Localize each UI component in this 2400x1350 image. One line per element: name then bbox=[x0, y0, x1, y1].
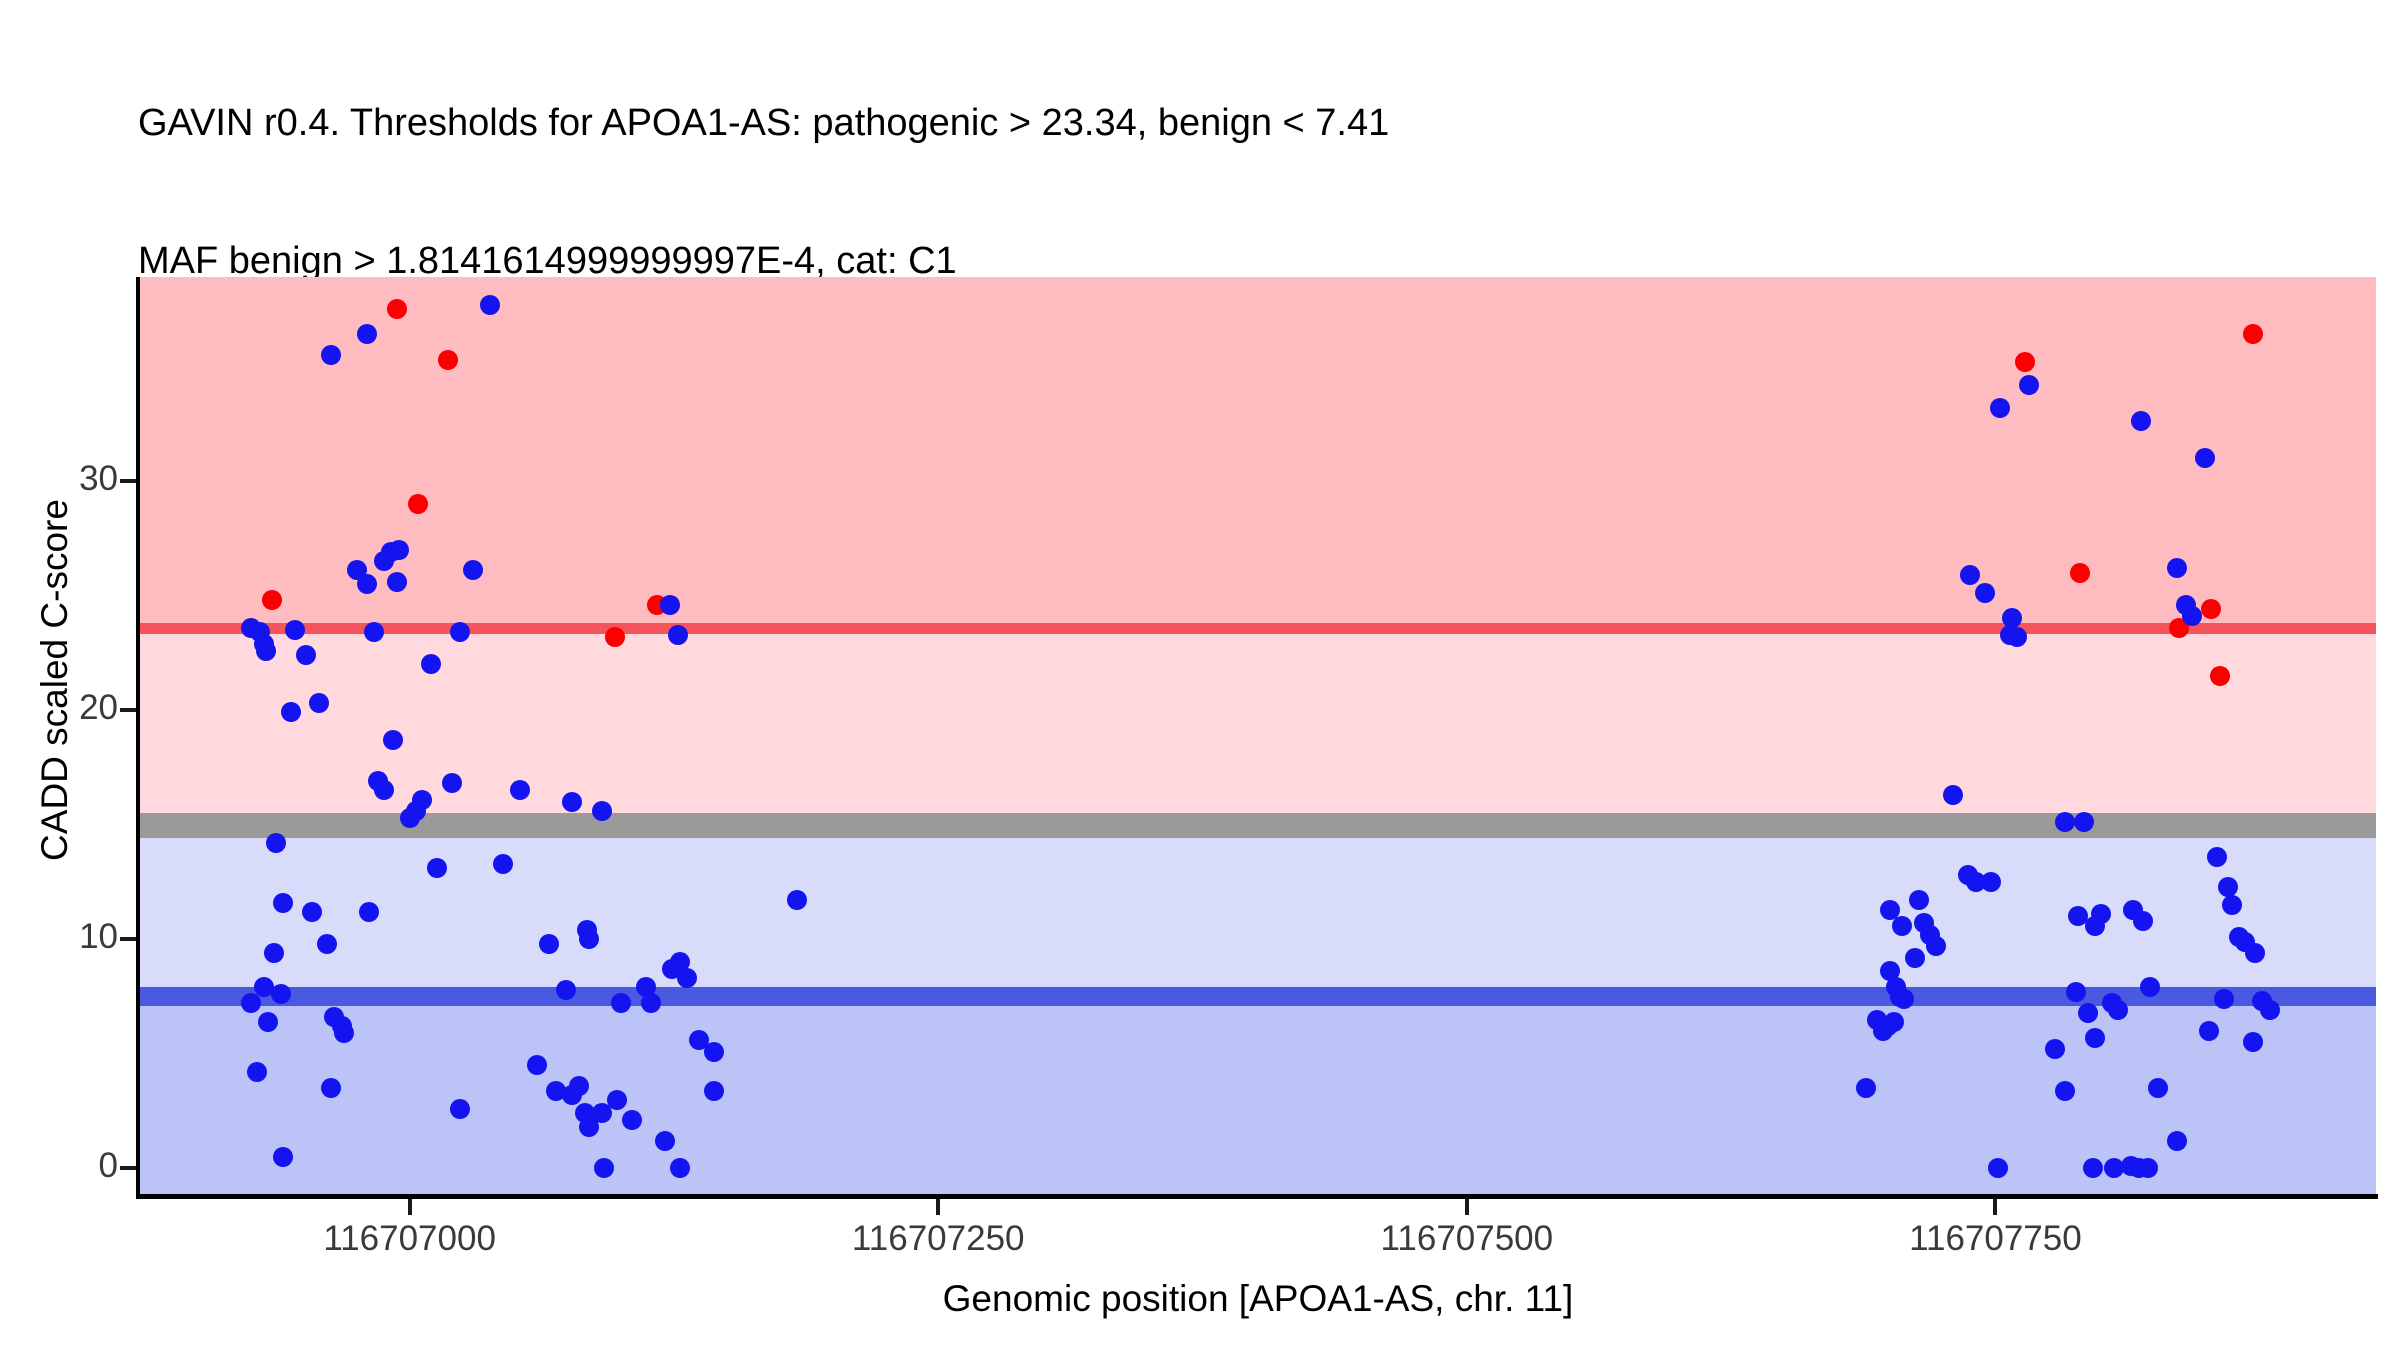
gnomad-point bbox=[271, 984, 291, 1004]
band-benign-zone bbox=[139, 1006, 2376, 1196]
pathogenic-point bbox=[605, 627, 625, 647]
gnomad-point bbox=[592, 801, 612, 821]
band-benign-threshold-line bbox=[139, 987, 2376, 1005]
gnomad-point bbox=[1943, 785, 1963, 805]
x-tick-mark bbox=[936, 1199, 940, 1215]
gnomad-point bbox=[258, 1012, 278, 1032]
gnomad-point bbox=[387, 572, 407, 592]
gnomad-point bbox=[668, 625, 688, 645]
gnomad-point bbox=[273, 1147, 293, 1167]
gnomad-point bbox=[1884, 1012, 1904, 1032]
x-tick-label: 116707500 bbox=[1307, 1219, 1627, 1259]
gnomad-point bbox=[660, 595, 680, 615]
gnomad-point bbox=[622, 1110, 642, 1130]
title-line-1: GAVIN r0.4. Thresholds for APOA1-AS: pat… bbox=[138, 100, 2378, 146]
band-intermediate-upper-zone bbox=[139, 634, 2376, 825]
pathogenic-point bbox=[408, 494, 428, 514]
gnomad-point bbox=[400, 808, 420, 828]
gnomad-point bbox=[787, 890, 807, 910]
gnomad-point bbox=[1990, 398, 2010, 418]
gnomad-point bbox=[2007, 627, 2027, 647]
band-fallback-threshold-band bbox=[139, 813, 2376, 838]
gnomad-point bbox=[2218, 877, 2238, 897]
gnomad-point bbox=[256, 641, 276, 661]
y-tick-mark bbox=[120, 708, 136, 712]
gnomad-point bbox=[2085, 1028, 2105, 1048]
gnomad-point bbox=[421, 654, 441, 674]
gnomad-point bbox=[556, 980, 576, 1000]
x-axis-title: Genomic position [APOA1-AS, chr. 11] bbox=[138, 1278, 2378, 1320]
pathogenic-point bbox=[387, 299, 407, 319]
band-intermediate-lower-zone bbox=[139, 838, 2376, 998]
band-pathogenic-zone bbox=[139, 277, 2376, 634]
x-tick-mark bbox=[1465, 1199, 1469, 1215]
x-axis-spine bbox=[136, 1194, 2378, 1199]
chart-root: GAVIN r0.4. Thresholds for APOA1-AS: pat… bbox=[0, 0, 2400, 1350]
gnomad-point bbox=[2055, 1081, 2075, 1101]
y-tick-mark bbox=[120, 937, 136, 941]
gnomad-point bbox=[510, 780, 530, 800]
gnomad-point bbox=[493, 854, 513, 874]
y-tick-label: 0 bbox=[0, 1146, 118, 1186]
gnomad-point bbox=[2214, 989, 2234, 1009]
gnomad-point bbox=[2199, 1021, 2219, 1041]
pathogenic-point bbox=[2210, 666, 2230, 686]
y-axis-title: CADD scaled C-score bbox=[34, 300, 80, 1060]
gnomad-point bbox=[389, 540, 409, 560]
gnomad-point bbox=[480, 295, 500, 315]
x-tick-label: 116707750 bbox=[1835, 1219, 2155, 1259]
gnomad-point bbox=[1988, 1158, 2008, 1178]
y-axis-spine bbox=[136, 277, 140, 1196]
gnomad-point bbox=[2195, 448, 2215, 468]
gnomad-point bbox=[317, 934, 337, 954]
gnomad-point bbox=[2078, 1003, 2098, 1023]
gnomad-point bbox=[704, 1081, 724, 1101]
gnomad-point bbox=[1892, 916, 1912, 936]
x-tick-mark bbox=[408, 1199, 412, 1215]
gnomad-point bbox=[1905, 948, 1925, 968]
plot-panel bbox=[139, 277, 2376, 1196]
gnomad-point bbox=[2066, 982, 2086, 1002]
pathogenic-point bbox=[2015, 352, 2035, 372]
gnomad-point bbox=[309, 693, 329, 713]
gnomad-point bbox=[677, 968, 697, 988]
gnomad-point bbox=[383, 730, 403, 750]
gnomad-point bbox=[539, 934, 559, 954]
gnomad-point bbox=[527, 1055, 547, 1075]
gnomad-point bbox=[1960, 565, 1980, 585]
x-tick-mark bbox=[1993, 1199, 1997, 1215]
x-tick-label: 116707000 bbox=[250, 1219, 570, 1259]
y-tick-mark bbox=[120, 1166, 136, 1170]
gnomad-point bbox=[273, 893, 293, 913]
gnomad-point bbox=[2045, 1039, 2065, 1059]
gnomad-point bbox=[364, 622, 384, 642]
gnomad-point bbox=[704, 1042, 724, 1062]
gnomad-point bbox=[569, 1076, 589, 1096]
y-tick-mark bbox=[120, 479, 136, 483]
pathogenic-point bbox=[438, 350, 458, 370]
pathogenic-point bbox=[2070, 563, 2090, 583]
gnomad-point bbox=[607, 1090, 627, 1110]
x-tick-label: 116707250 bbox=[778, 1219, 1098, 1259]
gnomad-point bbox=[2019, 375, 2039, 395]
gnomad-point bbox=[1975, 583, 1995, 603]
